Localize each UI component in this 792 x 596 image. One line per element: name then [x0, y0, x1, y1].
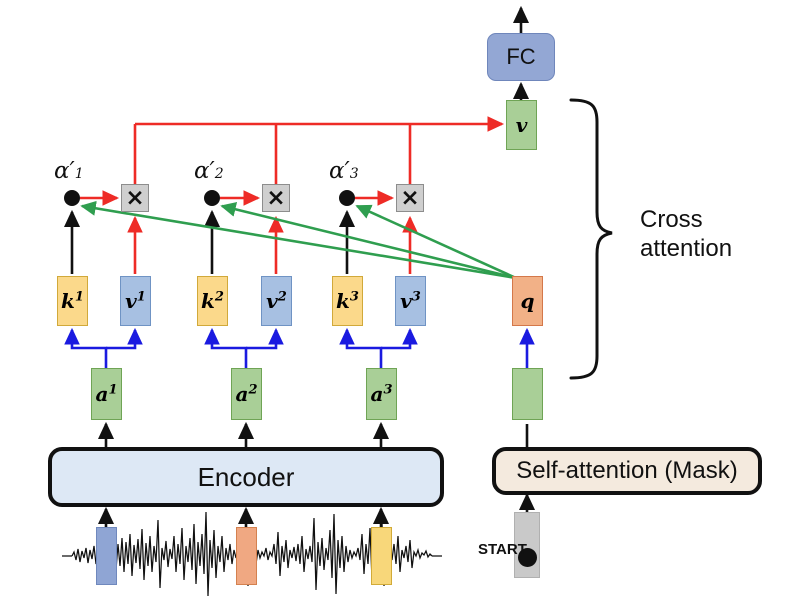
cross-attention-label-line2: attention: [640, 234, 732, 263]
acoustic-vector-2: a2: [231, 368, 262, 420]
cross-attention-label-line1: Cross: [640, 205, 732, 234]
value-vector-1-label: v1: [125, 289, 146, 313]
value-vector-2-label: v2: [266, 289, 287, 313]
waveform-marker-2: [236, 527, 257, 585]
key-vector-1: k1: [57, 276, 88, 326]
key-vector-3: k3: [332, 276, 363, 326]
value-vector-1: v1: [120, 276, 151, 326]
acoustic-vector-3-label: a3: [370, 382, 392, 406]
decoder-hidden-state: [512, 368, 543, 420]
value-vector-2: v2: [261, 276, 292, 326]
self-attention-module: Self-attention (Mask): [492, 447, 762, 495]
output-value-vector: v: [506, 100, 537, 150]
cross-attention-bracket: [571, 100, 612, 378]
multiply-gate-3: ×: [396, 184, 424, 212]
value-vector-3: v3: [395, 276, 426, 326]
encoder-to-acoustic-black: [106, 424, 381, 447]
query-vector-label: q: [521, 289, 535, 313]
acoustic-fork-blue: [72, 330, 410, 368]
waveform-marker-1: [96, 527, 117, 585]
attention-weight-label-3: α′3: [329, 158, 359, 184]
encoder-module: Encoder: [48, 447, 444, 507]
encoder-label: Encoder: [198, 462, 295, 493]
fc-module: FC: [487, 33, 555, 81]
query-to-alpha-green: [82, 206, 516, 278]
key-vector-1-label: k1: [61, 289, 84, 313]
key-vector-2: k2: [197, 276, 228, 326]
waveform-marker-3: [371, 527, 392, 585]
start-label: START: [478, 541, 527, 558]
value-vector-3-label: v3: [400, 289, 421, 313]
diagram-canvas: α′1 α′2 α′3 × × × k1 k2 k3 v1 v2 v3 q a1…: [0, 0, 792, 596]
acoustic-vector-1-label: a1: [95, 382, 117, 406]
attention-weight-dot-3: [339, 190, 355, 206]
key-vector-2-label: k2: [201, 289, 224, 313]
multiply-gate-2: ×: [262, 184, 290, 212]
multiply-gate-1: ×: [121, 184, 149, 212]
value-bus-red: [135, 124, 502, 184]
acoustic-vector-3: a3: [366, 368, 397, 420]
acoustic-vector-2-label: a2: [235, 382, 257, 406]
value-to-multiply-red: [135, 218, 410, 274]
attention-weight-dot-2: [204, 190, 220, 206]
attention-weight-label-2: α′2: [194, 158, 224, 184]
query-vector: q: [512, 276, 543, 326]
self-attention-label: Self-attention (Mask): [516, 457, 737, 485]
fc-label: FC: [506, 44, 535, 70]
acoustic-vector-1: a1: [91, 368, 122, 420]
cross-attention-label: Cross attention: [640, 205, 732, 264]
key-vector-3-label: k3: [336, 289, 359, 313]
attention-weight-label-1: α′1: [54, 158, 84, 184]
attention-weight-dot-1: [64, 190, 80, 206]
output-value-vector-label: v: [516, 113, 528, 137]
